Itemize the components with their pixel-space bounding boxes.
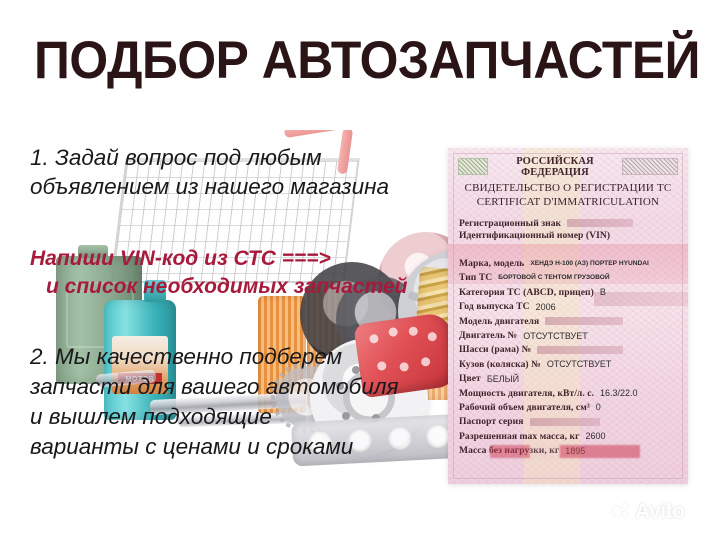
certificate-title-ru: СВИДЕТЕЛЬСТВО О РЕГИСТРАЦИИ ТС	[448, 182, 688, 194]
certificate-field-label: Идентификационный номер (VIN)	[459, 230, 610, 241]
step-1-line-1: 1. Задай вопрос под любым	[30, 143, 389, 172]
avito-logo-icon	[612, 503, 633, 521]
vin-cta-line-2: и список необходимых запчастей	[30, 273, 407, 301]
certificate-field-row: Рабочий объем двигателя, см³0	[459, 400, 680, 414]
certificate-field-row: Модель двигателя	[459, 314, 680, 328]
certificate-field-label: Разрешенная max масса, кг	[459, 431, 580, 442]
certificate-field-row: ЦветБЕЛЫЙ	[459, 372, 680, 386]
step-1-line-2: объявлением из нашего магазина	[30, 172, 389, 201]
certificate-field-redaction	[567, 219, 633, 227]
certificate-field-row: Год выпуска ТС2006	[459, 300, 680, 314]
avito-wordmark: Avito	[635, 500, 685, 524]
certificate-field-value: ОТСУТСТВУЕТ	[547, 359, 612, 369]
avito-watermark: Avito	[612, 500, 685, 524]
certificate-field-row: Разрешенная max масса, кг2600	[459, 429, 680, 443]
certificate-field-value: БЕЛЫЙ	[487, 374, 519, 384]
certificate-field-label: Двигатель №	[459, 330, 517, 341]
certificate-title-fr: CERTIFICAT D'IMMATRICULATION	[448, 196, 688, 208]
vin-cta-line-1: Напиши VIN-код из СТС ===>	[30, 245, 407, 273]
certificate-field-value: 0	[596, 402, 601, 412]
advertisement-banner: MOTOR ПОДБОР АВТОЗАПЧАСТЕЙ 1. Задай вопр…	[0, 0, 720, 540]
vehicle-registration-certificate: РОССИЙСКАЯ ФЕДЕРАЦИЯ СВИДЕТЕЛЬСТВО О РЕГ…	[448, 148, 688, 484]
certificate-field-row: Двигатель №ОТСУТСТВУЕТ	[459, 328, 680, 342]
vin-call-to-action: Напиши VIN-код из СТС ===> и список необ…	[30, 245, 407, 301]
step-2-line-1: 2. Мы качественно подберем	[30, 342, 399, 372]
certificate-bottom-redaction	[490, 445, 640, 458]
certificate-country-header: РОССИЙСКАЯ ФЕДЕРАЦИЯ	[458, 158, 678, 175]
certificate-field-row: Тип ТСБОРТОВОЙ С ТЕНТОМ ГРУЗОВОЙ	[459, 271, 680, 285]
certificate-field-value: 16.3/22.0	[600, 388, 638, 398]
security-mesh-left	[458, 158, 488, 175]
certificate-field-row: Мощность двигателя, кВт/л. с.16.3/22.0	[459, 386, 680, 400]
certificate-field-row: Регистрационный знак	[459, 216, 680, 230]
certificate-field-redaction	[545, 317, 623, 325]
certificate-field-label: Марка, модель	[459, 258, 524, 269]
certificate-field-value: ХЕНДЭ Н-100 (АЗ) ПОРТЕР HYUNDAI	[530, 260, 649, 267]
page-title: ПОДБОР АВТОЗАПЧАСТЕЙ	[34, 30, 700, 92]
certificate-field-value: ОТСУТСТВУЕТ	[523, 331, 588, 341]
certificate-field-row: Марка, модельХЕНДЭ Н-100 (АЗ) ПОРТЕР HYU…	[459, 256, 680, 270]
certificate-field-row: Идентификационный номер (VIN)	[459, 230, 680, 256]
certificate-field-row: Категория ТС (ABCD, прицеп)B	[459, 285, 680, 299]
certificate-field-redaction	[537, 346, 623, 354]
step-2-line-3: и вышлем подходящие	[30, 402, 399, 432]
certificate-field-label: Цвет	[459, 373, 481, 384]
certificate-field-value: 2600	[586, 431, 606, 441]
certificate-field-label: Кузов (коляска) №	[459, 359, 541, 370]
certificate-field-value: БОРТОВОЙ С ТЕНТОМ ГРУЗОВОЙ	[498, 274, 609, 281]
certificate-field-value: B	[600, 287, 606, 297]
certificate-field-label: Тип ТС	[459, 272, 492, 283]
security-mesh-right	[622, 158, 678, 175]
certificate-field-label: Рабочий объем двигателя, см³	[459, 402, 590, 413]
certificate-field-label: Модель двигателя	[459, 316, 539, 327]
step-2-line-4: варианты с ценами и сроками	[30, 432, 399, 462]
certificate-field-label: Год выпуска ТС	[459, 301, 530, 312]
certificate-field-label: Шасси (рама) №	[459, 344, 531, 355]
certificate-field-label: Мощность двигателя, кВт/л. с.	[459, 388, 594, 399]
certificate-country-label: РОССИЙСКАЯ ФЕДЕРАЦИЯ	[488, 156, 622, 178]
step-1-text: 1. Задай вопрос под любым объявлением из…	[30, 143, 389, 201]
certificate-field-redaction	[530, 418, 600, 426]
certificate-field-list: Регистрационный знакИдентификационный но…	[459, 216, 680, 458]
certificate-field-value: 2006	[536, 302, 556, 312]
certificate-field-label: Паспорт серия	[459, 416, 524, 427]
certificate-field-row: Шасси (рама) №	[459, 343, 680, 357]
certificate-field-label: Категория ТС (ABCD, прицеп)	[459, 287, 594, 298]
step-2-line-2: запчасти для вашего автомобиля	[30, 372, 399, 402]
certificate-field-row: Кузов (коляска) №ОТСУТСТВУЕТ	[459, 357, 680, 371]
step-2-text: 2. Мы качественно подберем запчасти для …	[30, 342, 399, 462]
certificate-field-label: Регистрационный знак	[459, 218, 561, 229]
certificate-field-row: Паспорт серия	[459, 415, 680, 429]
